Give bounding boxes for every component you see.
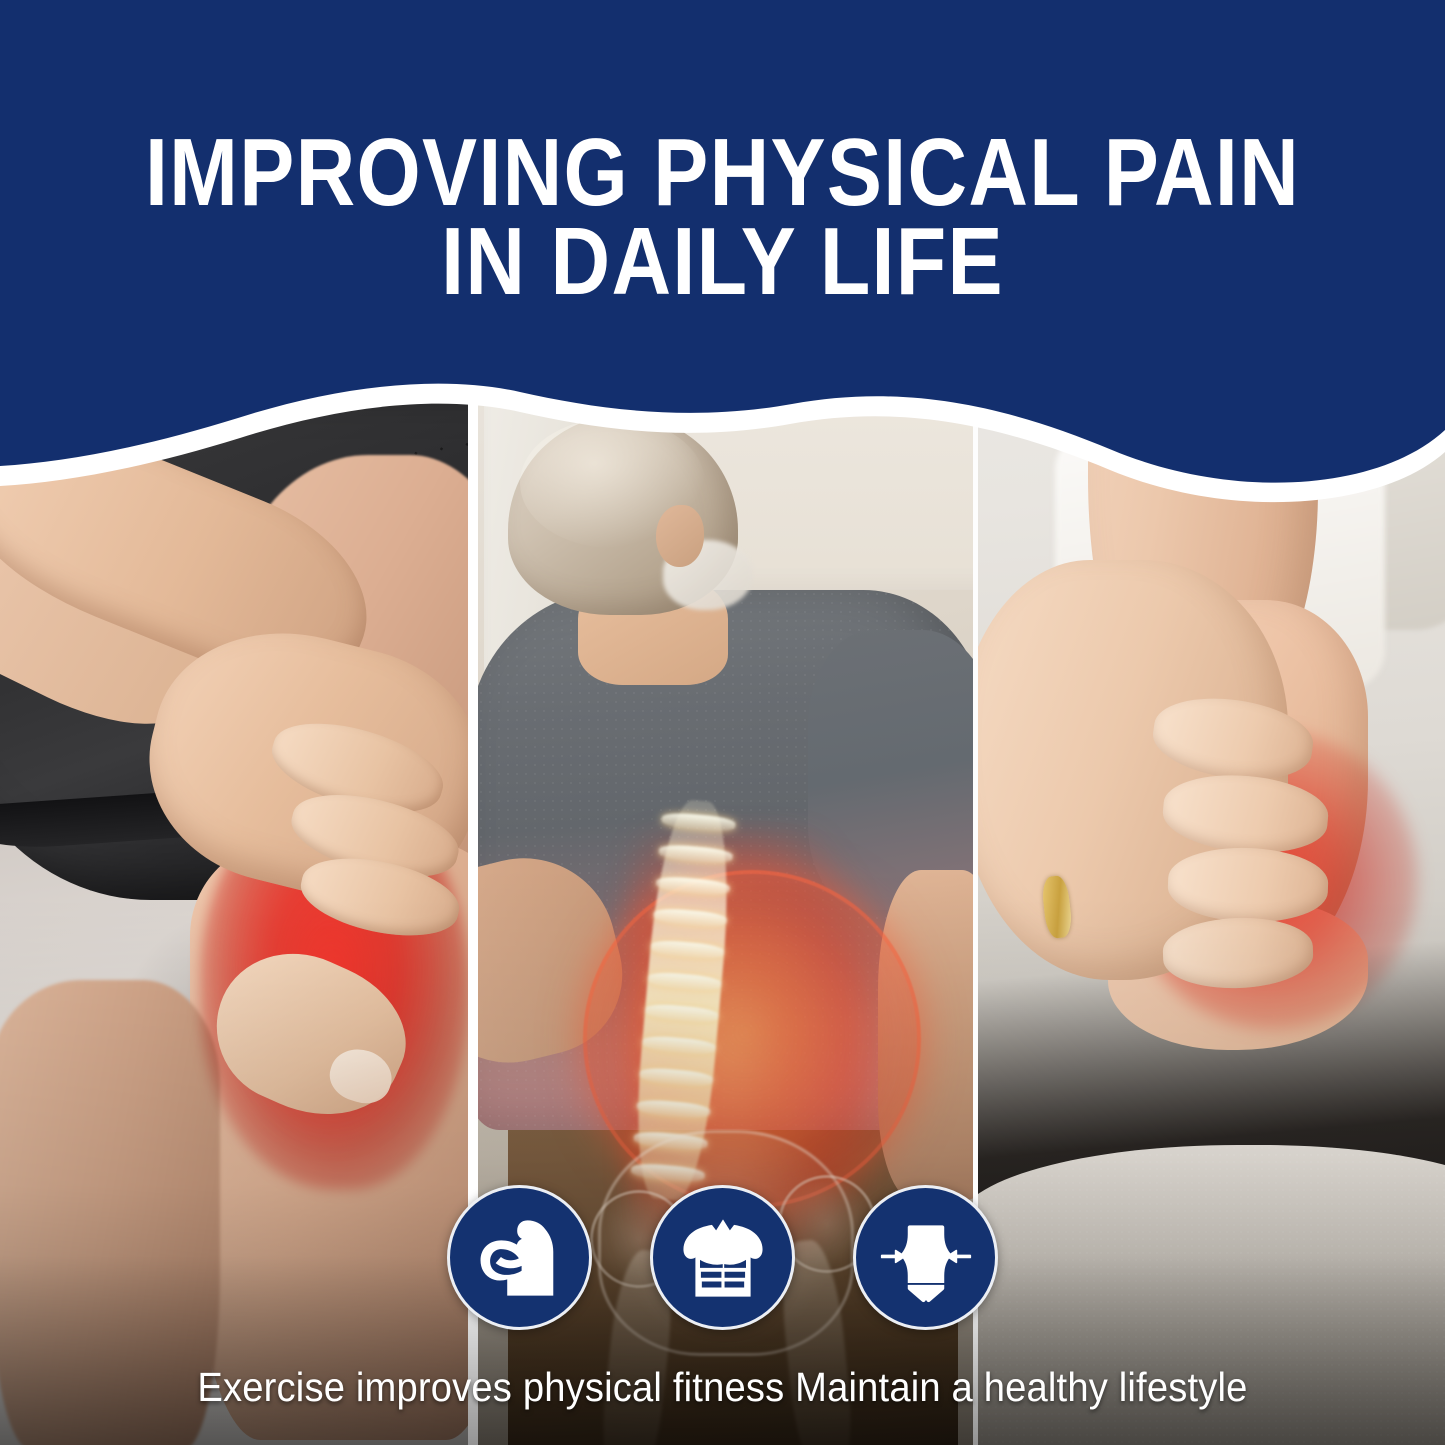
title-line-2: IN DAILY LIFE bbox=[101, 217, 1344, 306]
muscular-torso-icon[interactable] bbox=[650, 1185, 795, 1330]
benefit-icon-row bbox=[0, 1185, 1445, 1330]
title-line-1: IMPROVING PHYSICAL PAIN bbox=[101, 128, 1344, 217]
flexed-bicep-icon[interactable] bbox=[447, 1185, 592, 1330]
caption-text: Exercise improves physical fitness Maint… bbox=[51, 1364, 1395, 1411]
page-title: IMPROVING PHYSICAL PAIN IN DAILY LIFE bbox=[0, 128, 1445, 307]
poster-canvas: IMPROVING PHYSICAL PAIN IN DAILY LIFE bbox=[0, 0, 1445, 1445]
slim-waist-icon[interactable] bbox=[853, 1185, 998, 1330]
